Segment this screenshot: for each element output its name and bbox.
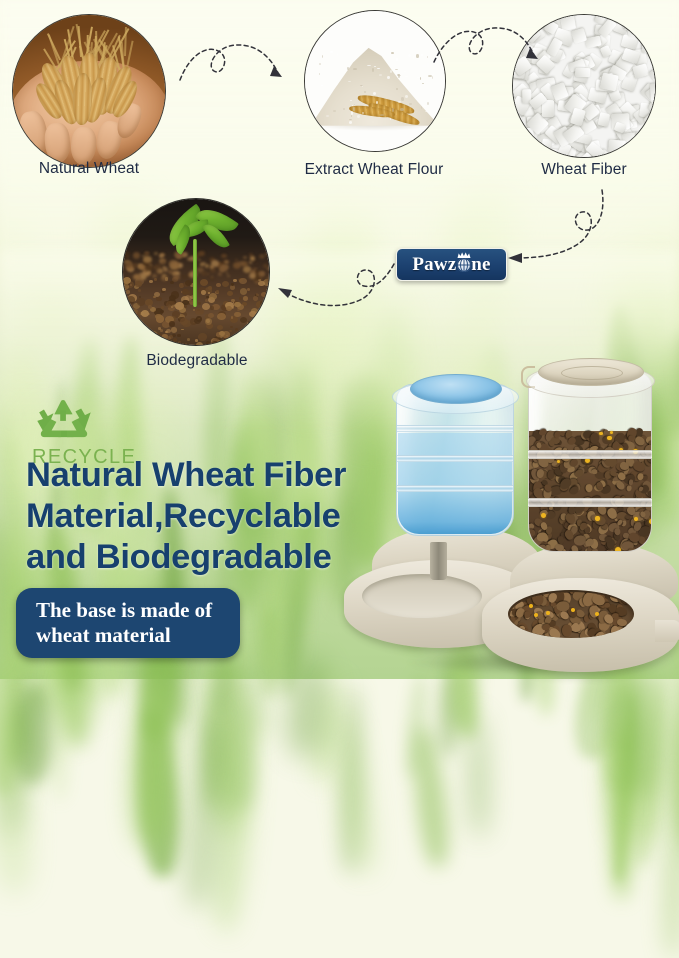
soil-particle (158, 327, 161, 330)
soil-particle (170, 301, 174, 305)
soil-particle (201, 271, 207, 276)
flour-speck (321, 85, 323, 86)
water-spout (430, 542, 447, 580)
soil-particle (249, 261, 252, 264)
plastic-pellet (575, 67, 590, 77)
soil-particle (209, 293, 217, 300)
soil-particle (126, 256, 128, 258)
food-bowl-kibble (510, 592, 634, 638)
product-photo (378, 330, 679, 679)
soil-particle (234, 312, 241, 318)
soil-particle (162, 261, 165, 264)
soil-particle (200, 279, 208, 286)
flour-speck (349, 119, 352, 120)
soil-particle (124, 337, 130, 342)
headline-line-2: Material,Recyclable (26, 496, 426, 537)
soil-particle (130, 284, 132, 286)
callout-badge: The base is made of wheat material (16, 588, 240, 658)
step-label-biodegradable: Biodegradable (114, 352, 280, 370)
arrow-flour-to-fiber (432, 22, 544, 80)
brand-logo: Pawz ne (396, 248, 507, 281)
globe-icon (457, 258, 471, 272)
flour-speck (353, 107, 355, 110)
food-jug (528, 372, 652, 552)
soil-particle (156, 333, 162, 338)
soil-particle (154, 278, 157, 281)
callout-badge-line-1: The base is made of (36, 598, 240, 623)
soil-particle (187, 338, 190, 341)
soil-particle (231, 283, 234, 285)
flour-speck (367, 65, 371, 67)
soil-particle (218, 340, 220, 342)
step-label-extract-wheat-flour: Extract Wheat Flour (274, 161, 474, 179)
food-kibble-fill (529, 431, 651, 551)
food-jug-band (528, 450, 652, 459)
soil-particle (210, 306, 214, 309)
water-bowl-inner (362, 574, 482, 618)
headline-line-3: and Biodegradable (26, 537, 426, 578)
flour-speck (336, 83, 338, 85)
brand-name-after-globe: ne (471, 255, 490, 274)
soil-particle (182, 289, 189, 295)
water-jug-ridge (397, 485, 513, 492)
soil-particle (180, 318, 188, 324)
flour-speck (400, 75, 401, 76)
soil-particle (198, 259, 201, 261)
soil-particle (161, 306, 164, 308)
kibble-yellow-bit (534, 613, 538, 617)
soil-particle (198, 302, 202, 305)
soil-particle (138, 289, 142, 292)
soil-particle (195, 308, 204, 315)
soil-particle (235, 259, 238, 262)
flour-speck (347, 67, 349, 70)
callout-badge-line-2: wheat material (36, 623, 240, 648)
food-bowl (482, 578, 679, 672)
soil-particle (156, 297, 162, 302)
soil-particle (165, 277, 169, 280)
water-jug-ridge (397, 425, 513, 432)
brand-logo-text: Pawz ne (412, 255, 490, 274)
soil-particle (162, 274, 165, 277)
kibble-yellow-bit (529, 604, 533, 608)
soil-particle (201, 290, 206, 294)
soil-particle (173, 338, 177, 341)
soil-particle (217, 313, 226, 320)
soil-particle (248, 321, 252, 325)
soil-particle (129, 322, 134, 327)
kibble-yellow-bit (610, 431, 613, 434)
soil-particle (211, 260, 219, 267)
flour-speck (362, 112, 364, 114)
kibble-yellow-bit (595, 612, 599, 616)
brand-name-before-globe: Pawz (412, 255, 456, 274)
soil-particle (222, 281, 229, 287)
soil-particle (243, 296, 248, 301)
soil-particle (237, 309, 240, 311)
soil-particle (133, 274, 141, 281)
soil-particle (163, 267, 169, 272)
soil-particle (227, 291, 233, 296)
plastic-pellet (609, 140, 627, 154)
soil-particle (125, 261, 132, 267)
food-bowl-notch (655, 620, 679, 642)
soil-particle (219, 331, 225, 336)
soil-particle (221, 254, 226, 259)
food-jug-band (528, 498, 652, 507)
water-jug-ridge (397, 455, 513, 462)
soil-particle (224, 260, 229, 264)
flour-speck (351, 115, 353, 117)
flour-speck (408, 54, 411, 57)
soil-particle (126, 290, 131, 294)
kibble-piece (539, 545, 546, 551)
flour-speck (380, 114, 384, 116)
water-jug-cap (410, 374, 502, 404)
soil-particle (258, 281, 265, 287)
soil-particle (133, 252, 141, 259)
sprout-stem (193, 239, 197, 307)
soil-particle (162, 288, 166, 291)
flour-speck (351, 111, 353, 115)
flour-speck (422, 105, 426, 107)
soil-particle (216, 283, 221, 287)
step-label-natural-wheat: Natural Wheat (0, 160, 178, 178)
kibble-piece (556, 600, 570, 611)
soil-particle (254, 334, 257, 336)
plastic-pellet (649, 83, 656, 100)
flour-speck (364, 91, 366, 92)
kibble-yellow-bit (546, 611, 550, 615)
soil-particle (122, 283, 129, 290)
soil-particle (196, 342, 203, 346)
kibble-piece (579, 522, 587, 529)
kibble-piece (626, 485, 632, 492)
soil-particle (152, 274, 157, 278)
flour-speck (357, 115, 360, 118)
flour-speck (401, 97, 405, 101)
flour-speck (396, 58, 397, 61)
soil-particle (250, 256, 255, 261)
kibble-piece (571, 623, 581, 631)
soil-particle (198, 333, 207, 341)
water-liquid (398, 433, 512, 534)
kibble-yellow-bit (599, 432, 603, 436)
soil-particle (216, 290, 219, 293)
soil-particle (143, 256, 152, 264)
kibble-yellow-bit (571, 608, 575, 612)
flour-speck (421, 54, 424, 56)
soil-particle (166, 336, 171, 340)
headline: Natural Wheat Fiber Material,Recyclable … (26, 455, 426, 578)
soil-particle (135, 281, 141, 286)
soil-particle (235, 328, 238, 331)
step-image-natural-wheat (12, 14, 166, 168)
soil-particle (125, 328, 131, 333)
kibble-yellow-bit (595, 516, 599, 520)
soil-particle (132, 263, 138, 268)
grass-blade (330, 707, 377, 875)
flour-speck (427, 63, 429, 67)
soil-particle (129, 310, 132, 312)
flour-speck (405, 95, 408, 98)
soil-particle (229, 330, 232, 332)
soil-particle (260, 301, 264, 304)
food-jug-lid-inner-ring (561, 366, 623, 380)
flour-speck (372, 68, 374, 72)
flour-speck (416, 54, 420, 58)
flour-speck (390, 70, 393, 73)
kibble-piece (591, 469, 598, 474)
soil-particle (137, 321, 141, 325)
flour-speck (390, 118, 392, 120)
soil-particle (123, 277, 131, 284)
recycle-icon (32, 398, 96, 440)
soil-particle (238, 261, 244, 266)
kibble-piece (610, 625, 619, 636)
soil-particle (127, 296, 136, 303)
soil-particle (132, 327, 135, 330)
kibble-piece (629, 479, 634, 485)
step-image-extract-wheat-flour (304, 10, 446, 152)
soil-particle (169, 260, 178, 268)
kibble-yellow-bit (649, 519, 652, 525)
soil-particle (247, 288, 251, 291)
soil-particle (155, 314, 162, 320)
step-image-biodegradable (122, 198, 270, 346)
soil-particle (240, 288, 247, 294)
arrow-logo-to-biodegradable (268, 256, 400, 318)
headline-line-1: Natural Wheat Fiber (26, 455, 426, 496)
step-label-wheat-fiber: Wheat Fiber (500, 161, 668, 179)
kibble-yellow-bit (607, 436, 612, 441)
grass-blade (469, 711, 488, 837)
kibble-piece (646, 539, 652, 546)
soil-particle (253, 296, 258, 300)
soil-particle (175, 302, 184, 309)
kibble-yellow-bit (615, 547, 621, 552)
arrow-fiber-to-logo (498, 178, 618, 286)
food-jug-lid (538, 358, 644, 386)
flour-speck (413, 56, 414, 59)
paw-crown-icon (456, 251, 471, 258)
kibble-piece (562, 625, 572, 638)
arrow-wheat-to-flour (178, 36, 292, 96)
soil-particle (226, 306, 232, 311)
soil-particle (200, 263, 203, 265)
kibble-piece (536, 442, 542, 449)
flour-speck (343, 108, 345, 109)
soil-particle (206, 341, 210, 345)
soil-particle (258, 271, 265, 277)
soil-particle (194, 318, 201, 324)
flour-speck (398, 101, 401, 103)
soil-particle (154, 252, 158, 255)
soil-particle (137, 298, 146, 305)
soil-particle (205, 318, 213, 325)
soil-particle (158, 269, 163, 273)
